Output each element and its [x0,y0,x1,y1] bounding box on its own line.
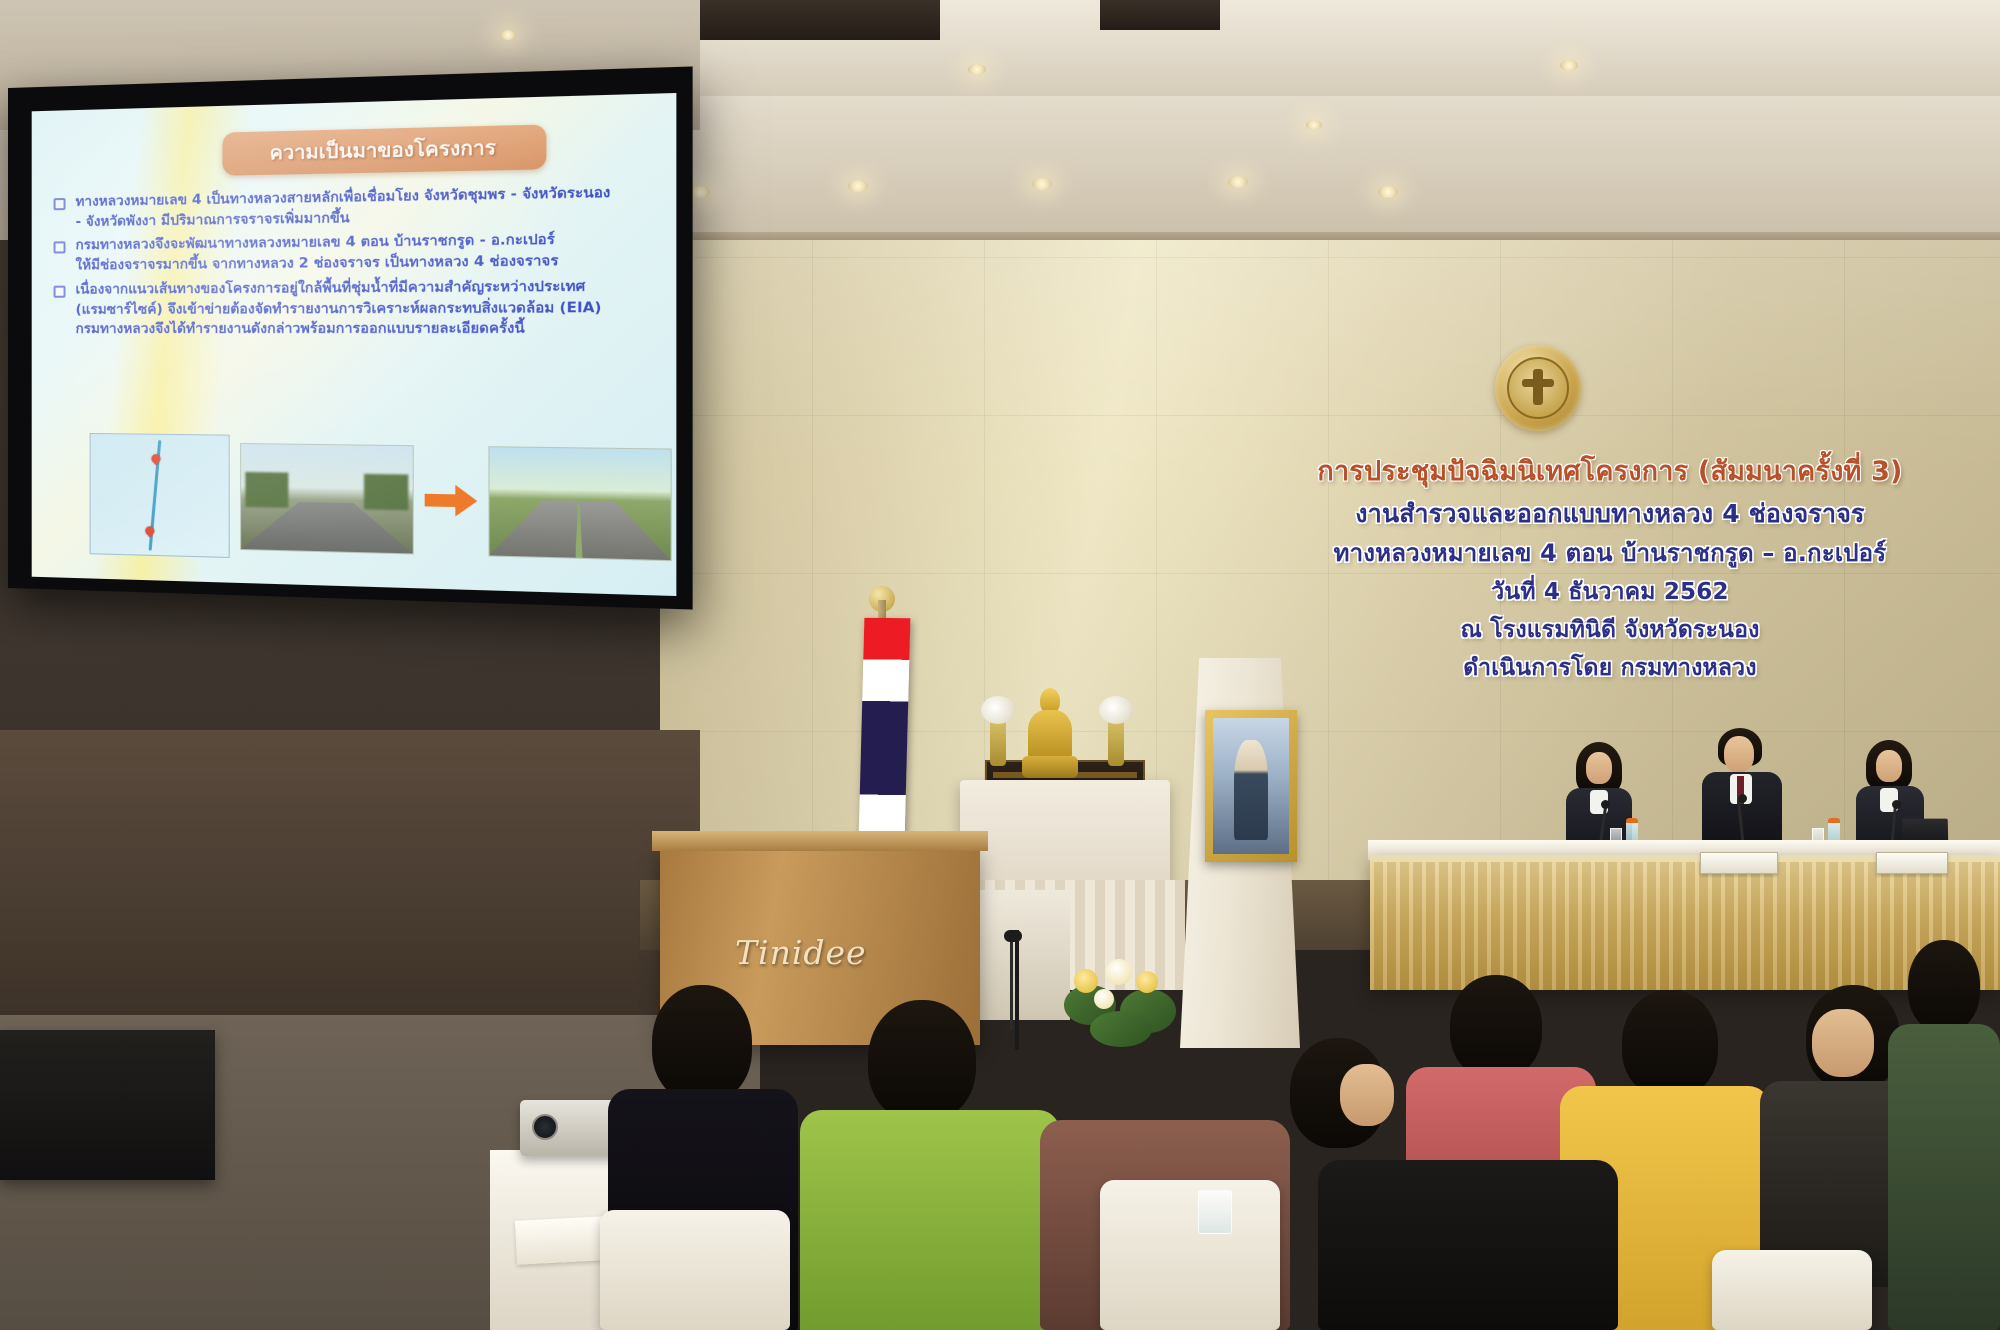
bullet-square-icon [54,198,66,210]
nameplate-center [1700,852,1778,874]
microphone-head-center [1738,794,1747,803]
banner-line-1: การประชุมปัจฉิมนิเทศโครงการ (สัมมนาครั้ง… [1311,455,1908,489]
banner-line-2: งานสำรวจและออกแบบทางหลวง 4 ช่องจราจร [1349,498,1870,530]
slide-title: ความเป็นมาของโครงการ [222,124,546,175]
proposed-highway-rendering [488,446,672,561]
transform-arrow-icon [424,484,477,517]
ceiling-recess-dark [690,0,940,40]
banner-line-3: ทางหลวงหมายเลข 4 ตอน บ้านราชกรูด – อ.กะเ… [1328,538,1893,568]
slide-body: ทางหลวงหมายเลข 4 เป็นทางหลวงสายหลักเพื่อ… [54,182,658,344]
audience-member-6-black-shirt [1318,1160,1618,1330]
downlight-9 [500,30,516,40]
downlight-6 [968,64,986,75]
slide-figures [90,433,672,570]
ceiling-recess-dark-2 [1100,0,1220,30]
flower-arrangement [1060,955,1190,1051]
downlight-7 [1560,60,1578,71]
slide-bullet-1: ทางหลวงหมายเลข 4 เป็นทางหลวงสายหลักเพื่อ… [54,182,658,233]
podium-logo-text: Tinidee [735,933,867,972]
downlight-1 [690,186,710,198]
bullet-1-line-2: - จังหวัดพังงา มีปริมาณการจราจรเพิ่มมากข… [76,204,658,233]
audience-chair-2 [1100,1180,1280,1330]
buddha-statue [1020,688,1080,780]
audience-member-2-green-shirt [800,1000,1060,1330]
audience-member-8-uniform [1888,940,2000,1330]
banner-line-5: ณ โรงแรมทินิดี จังหวัดระนอง [1454,616,1765,645]
conference-room-photo: การประชุมปัจฉิมนิเทศโครงการ (สัมมนาครั้ง… [0,0,2000,1330]
route-map-figure [90,433,230,558]
microphone-head-left [1601,800,1610,809]
altar-vase-right [1108,718,1124,766]
floor-loudspeaker [0,1030,215,1180]
podium-microphone-head [1004,930,1022,942]
bullet-2-line-2: ให้มีช่องจราจรมากขึ้น จากทางหลวง 2 ช่องจ… [76,250,658,276]
banner-line-4: วันที่ 4 ธันวาคม 2562 [1485,578,1734,607]
bullet-square-icon [54,242,66,254]
projection-screen: ความเป็นมาของโครงการ ทางหลวงหมายเลข 4 เป… [8,66,693,609]
downlight-8 [1306,120,1322,130]
downlight-5 [1378,186,1398,198]
downlight-4 [1228,176,1248,188]
ceiling-soffit-main [640,96,2000,246]
slide-bullet-3: เนื่องจากแนวเส้นทางของโครงการอยู่ใกล้พื้… [54,276,658,340]
nameplate-right [1876,852,1948,874]
downlight-3 [1032,178,1052,190]
existing-highway-photo [240,443,413,555]
dark-wall-left-lower [0,730,700,1020]
royal-portrait-image [1213,718,1289,854]
banner-line-6: ดำเนินการโดย กรมทางหลวง [1457,654,1762,683]
bullet-square-icon [54,285,66,297]
royal-portrait-frame [1205,710,1297,862]
audience-chair-3 [1712,1250,1872,1330]
altar-vase-left [990,718,1006,766]
slide-bullet-2: กรมทางหลวงจึงจะพัฒนาทางหลวงหมายเลข 4 ตอน… [54,229,658,276]
downlight-2 [848,180,868,192]
department-of-highways-emblem-icon [1495,345,1581,431]
bullet-3-line-1: เนื่องจากแนวเส้นทางของโครงการอยู่ใกล้พื้… [76,276,658,300]
event-banner: การประชุมปัจฉิมนิเทศโครงการ (สัมมนาครั้ง… [1230,455,1990,692]
slide-surface: ความเป็นมาของโครงการ ทางหลวงหมายเลข 4 เป… [32,93,677,596]
water-glass-audience-table [1198,1190,1232,1234]
bullet-2-line-1: กรมทางหลวงจึงจะพัฒนาทางหลวงหมายเลข 4 ตอน… [76,229,658,256]
bullet-1-line-1: ทางหลวงหมายเลข 4 เป็นทางหลวงสายหลักเพื่อ… [76,182,658,212]
projector-lens [532,1114,558,1140]
microphone-head-right [1892,800,1901,809]
bullet-3-line-3: กรมทางหลวงจึงได้ทำรายงานดังกล่าวพร้อมการ… [76,319,658,340]
bullet-3-line-2: (แรมซาร์ไซค์) จึงเข้าข่ายต้องจัดทำรายงาน… [76,297,658,320]
audience-chair-1 [600,1210,790,1330]
